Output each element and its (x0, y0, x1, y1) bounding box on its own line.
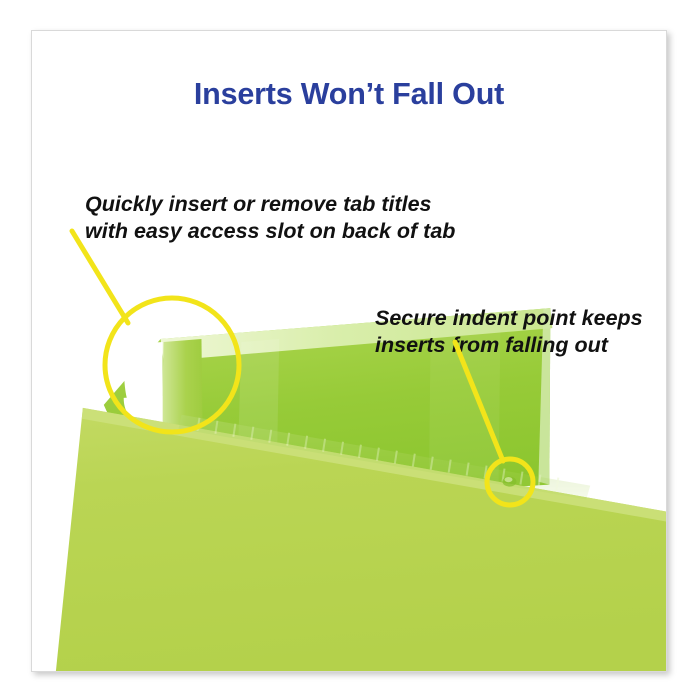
screenshot-root: Inserts Won’t Fall Out Quickly insert or… (0, 0, 700, 700)
callout-left-line-2: with easy access slot on back of tab (85, 218, 455, 245)
callout-right-line-1: Secure indent point keeps (375, 305, 643, 332)
page-title: Inserts Won’t Fall Out (32, 77, 666, 112)
indent-point (503, 477, 517, 487)
callout-left-line-1: Quickly insert or remove tab titles (85, 191, 455, 218)
callout-left: Quickly insert or remove tab titles with… (85, 191, 455, 245)
callout-right: Secure indent point keeps inserts from f… (375, 305, 643, 359)
product-image-card: Inserts Won’t Fall Out Quickly insert or… (31, 30, 667, 672)
callout-right-line-2: inserts from falling out (375, 332, 643, 359)
